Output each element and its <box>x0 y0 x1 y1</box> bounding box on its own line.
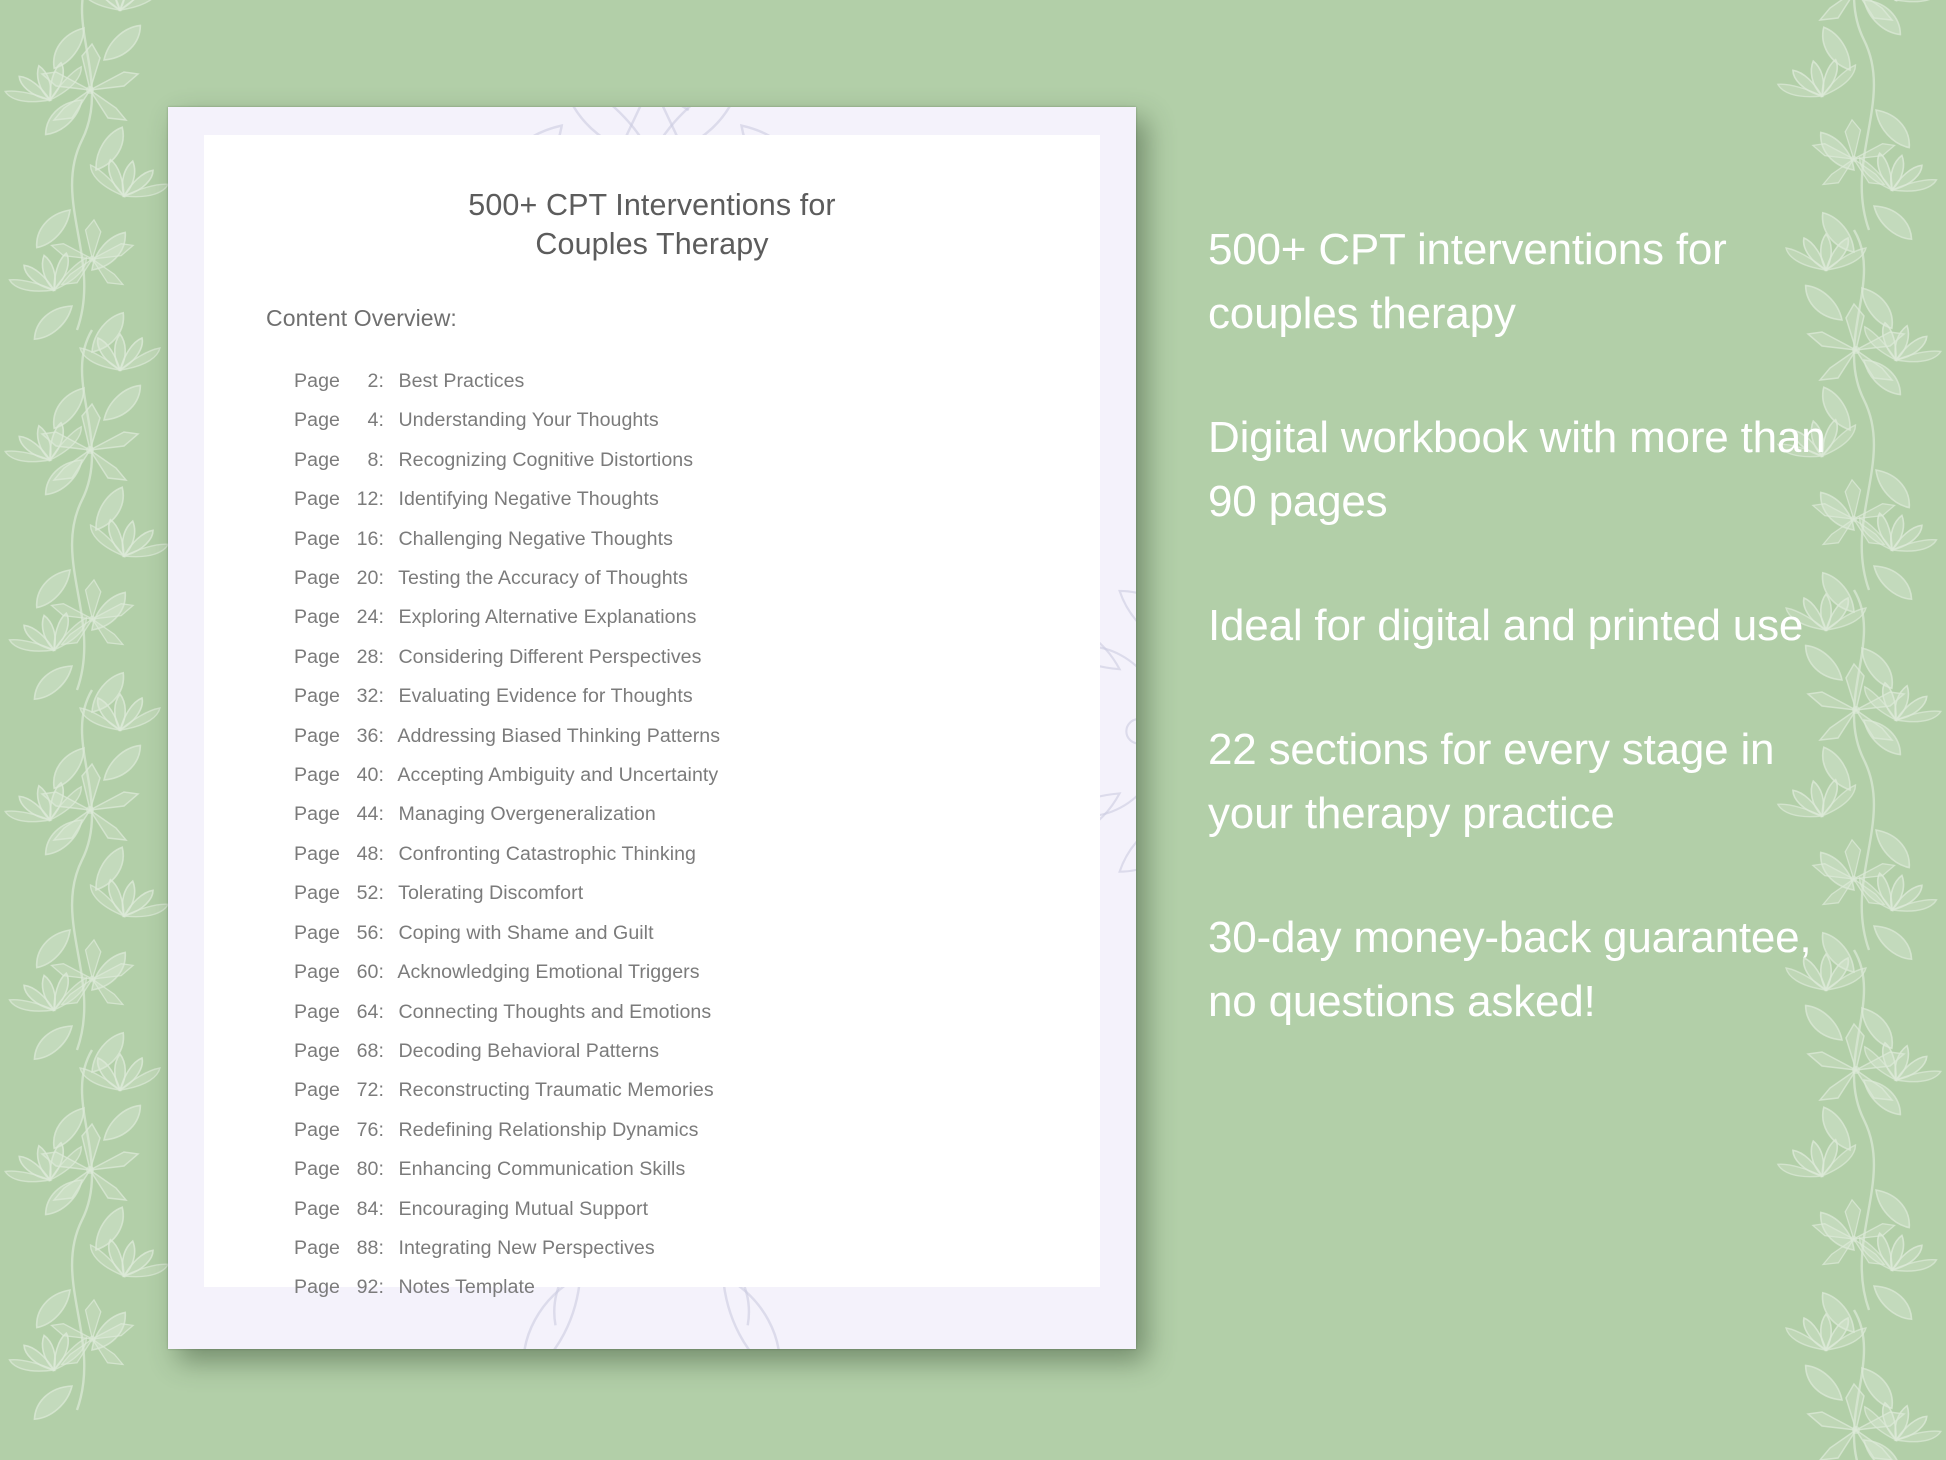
toc-page-number: 2 <box>345 362 378 401</box>
table-of-contents-item: Page 12: Identifying Negative Thoughts <box>294 480 1100 519</box>
toc-page-number: 24 <box>345 598 378 637</box>
toc-section-title: Integrating New Perspectives <box>393 1229 655 1268</box>
marketing-feature-item: Digital workbook with more than 90 pages <box>1208 406 1828 534</box>
toc-section-title: Notes Template <box>393 1268 535 1307</box>
toc-page-label: Page 84: <box>294 1190 393 1229</box>
toc-page-number: 76 <box>345 1111 378 1150</box>
toc-page-word: Page <box>294 685 345 707</box>
toc-section-title: Evaluating Evidence for Thoughts <box>393 677 693 716</box>
toc-page-word: Page <box>294 1001 345 1023</box>
toc-colon: : <box>378 843 393 865</box>
toc-page-number: 84 <box>345 1190 378 1229</box>
toc-page-number: 20 <box>345 559 378 598</box>
toc-page-label: Page 48: <box>294 835 393 874</box>
table-of-contents-item: Page 92: Notes Template <box>294 1268 1100 1307</box>
table-of-contents-item: Page 8: Recognizing Cognitive Distortion… <box>294 441 1100 480</box>
toc-colon: : <box>378 567 393 589</box>
toc-page-word: Page <box>294 1158 345 1180</box>
toc-page-number: 52 <box>345 874 378 913</box>
toc-colon: : <box>378 764 393 786</box>
table-of-contents-item: Page 20: Testing the Accuracy of Thought… <box>294 559 1100 598</box>
toc-colon: : <box>378 528 393 550</box>
toc-colon: : <box>378 725 393 747</box>
toc-page-label: Page 56: <box>294 914 393 953</box>
toc-page-label: Page 16: <box>294 520 393 559</box>
toc-page-label: Page 32: <box>294 677 393 716</box>
toc-page-label: Page 24: <box>294 598 393 637</box>
toc-section-title: Exploring Alternative Explanations <box>393 598 696 637</box>
toc-page-label: Page 2: <box>294 362 393 401</box>
toc-page-word: Page <box>294 843 345 865</box>
toc-page-number: 28 <box>345 638 378 677</box>
toc-page-number: 72 <box>345 1071 378 1110</box>
toc-page-label: Page 52: <box>294 874 393 913</box>
toc-page-word: Page <box>294 606 345 628</box>
toc-page-word: Page <box>294 961 345 983</box>
page-title: 500+ CPT Interventions for Couples Thera… <box>204 135 1100 264</box>
marketing-feature-item: 500+ CPT interventions for couples thera… <box>1208 218 1828 346</box>
content-overview-label: Content Overview: <box>204 264 1100 332</box>
toc-page-word: Page <box>294 922 345 944</box>
toc-colon: : <box>378 685 393 707</box>
toc-page-word: Page <box>294 409 345 431</box>
toc-page-label: Page 44: <box>294 795 393 834</box>
toc-page-number: 60 <box>345 953 378 992</box>
table-of-contents-item: Page 80: Enhancing Communication Skills <box>294 1150 1100 1189</box>
toc-page-number: 4 <box>345 401 378 440</box>
table-of-contents-item: Page 44: Managing Overgeneralization <box>294 795 1100 834</box>
toc-page-label: Page 12: <box>294 480 393 519</box>
toc-section-title: Coping with Shame and Guilt <box>393 914 654 953</box>
table-of-contents-item: Page 60: Acknowledging Emotional Trigger… <box>294 953 1100 992</box>
toc-colon: : <box>378 1198 393 1220</box>
toc-page-label: Page 80: <box>294 1150 393 1189</box>
toc-page-word: Page <box>294 528 345 550</box>
table-of-contents-item: Page 36: Addressing Biased Thinking Patt… <box>294 717 1100 756</box>
toc-page-number: 88 <box>345 1229 378 1268</box>
table-of-contents-item: Page 2: Best Practices <box>294 362 1100 401</box>
toc-page-number: 32 <box>345 677 378 716</box>
toc-colon: : <box>378 1158 393 1180</box>
toc-page-number: 40 <box>345 756 378 795</box>
table-of-contents-item: Page 48: Confronting Catastrophic Thinki… <box>294 835 1100 874</box>
toc-section-title: Managing Overgeneralization <box>393 795 656 834</box>
toc-colon: : <box>378 370 393 392</box>
toc-section-title: Addressing Biased Thinking Patterns <box>393 717 720 756</box>
toc-page-word: Page <box>294 1079 345 1101</box>
toc-page-number: 44 <box>345 795 378 834</box>
toc-page-word: Page <box>294 1119 345 1141</box>
toc-colon: : <box>378 449 393 471</box>
toc-page-label: Page 76: <box>294 1111 393 1150</box>
toc-page-number: 48 <box>345 835 378 874</box>
toc-page-word: Page <box>294 370 345 392</box>
toc-page-label: Page 92: <box>294 1268 393 1307</box>
toc-page-word: Page <box>294 725 345 747</box>
toc-page-word: Page <box>294 882 345 904</box>
toc-section-title: Challenging Negative Thoughts <box>393 520 673 559</box>
marketing-feature-item: 30-day money-back guarantee, no question… <box>1208 906 1828 1034</box>
marketing-feature-item: Ideal for digital and printed use <box>1208 594 1828 658</box>
toc-page-label: Page 60: <box>294 953 393 992</box>
toc-page-word: Page <box>294 1276 345 1298</box>
toc-section-title: Understanding Your Thoughts <box>393 401 659 440</box>
table-of-contents-item: Page 64: Connecting Thoughts and Emotion… <box>294 993 1100 1032</box>
toc-page-label: Page 8: <box>294 441 393 480</box>
toc-colon: : <box>378 922 393 944</box>
toc-page-label: Page 72: <box>294 1071 393 1110</box>
toc-page-label: Page 64: <box>294 993 393 1032</box>
toc-section-title: Recognizing Cognitive Distortions <box>393 441 693 480</box>
page-title-line-2: Couples Therapy <box>535 227 768 261</box>
table-of-contents-item: Page 4: Understanding Your Thoughts <box>294 401 1100 440</box>
toc-page-label: Page 88: <box>294 1229 393 1268</box>
toc-page-number: 68 <box>345 1032 378 1071</box>
toc-section-title: Tolerating Discomfort <box>393 874 583 913</box>
toc-page-word: Page <box>294 488 345 510</box>
toc-page-number: 12 <box>345 480 378 519</box>
toc-section-title: Testing the Accuracy of Thoughts <box>393 559 688 598</box>
toc-colon: : <box>378 882 393 904</box>
toc-colon: : <box>378 1119 393 1141</box>
marketing-feature-item: 22 sections for every stage in your ther… <box>1208 718 1828 846</box>
toc-section-title: Connecting Thoughts and Emotions <box>393 993 711 1032</box>
toc-colon: : <box>378 1276 393 1298</box>
marketing-feature-list: 500+ CPT interventions for couples thera… <box>1208 218 1828 1034</box>
table-of-contents-item: Page 40: Accepting Ambiguity and Uncerta… <box>294 756 1100 795</box>
table-of-contents-item: Page 16: Challenging Negative Thoughts <box>294 520 1100 559</box>
document-preview-card: 500+ CPT Interventions for Couples Thera… <box>168 107 1136 1349</box>
toc-page-label: Page 68: <box>294 1032 393 1071</box>
toc-colon: : <box>378 606 393 628</box>
toc-section-title: Redefining Relationship Dynamics <box>393 1111 699 1150</box>
toc-page-number: 64 <box>345 993 378 1032</box>
toc-page-word: Page <box>294 803 345 825</box>
toc-page-label: Page 36: <box>294 717 393 756</box>
table-of-contents-item: Page 88: Integrating New Perspectives <box>294 1229 1100 1268</box>
toc-page-word: Page <box>294 1237 345 1259</box>
table-of-contents-item: Page 56: Coping with Shame and Guilt <box>294 914 1100 953</box>
toc-page-word: Page <box>294 764 345 786</box>
page-title-line-1: 500+ CPT Interventions for <box>468 188 835 222</box>
toc-colon: : <box>378 1237 393 1259</box>
table-of-contents-item: Page 32: Evaluating Evidence for Thought… <box>294 677 1100 716</box>
table-of-contents-item: Page 52: Tolerating Discomfort <box>294 874 1100 913</box>
toc-page-word: Page <box>294 567 345 589</box>
table-of-contents-item: Page 24: Exploring Alternative Explanati… <box>294 598 1100 637</box>
toc-page-number: 92 <box>345 1268 378 1307</box>
toc-page-word: Page <box>294 1040 345 1062</box>
toc-page-number: 36 <box>345 717 378 756</box>
toc-colon: : <box>378 1040 393 1062</box>
toc-page-word: Page <box>294 1198 345 1220</box>
toc-page-label: Page 40: <box>294 756 393 795</box>
toc-colon: : <box>378 803 393 825</box>
toc-section-title: Reconstructing Traumatic Memories <box>393 1071 714 1110</box>
toc-section-title: Identifying Negative Thoughts <box>393 480 659 519</box>
toc-page-label: Page 28: <box>294 638 393 677</box>
toc-section-title: Encouraging Mutual Support <box>393 1190 648 1229</box>
toc-page-number: 8 <box>345 441 378 480</box>
toc-section-title: Confronting Catastrophic Thinking <box>393 835 696 874</box>
toc-colon: : <box>378 488 393 510</box>
toc-section-title: Considering Different Perspectives <box>393 638 702 677</box>
toc-page-number: 80 <box>345 1150 378 1189</box>
toc-page-label: Page 4: <box>294 401 393 440</box>
toc-section-title: Decoding Behavioral Patterns <box>393 1032 659 1071</box>
table-of-contents-item: Page 68: Decoding Behavioral Patterns <box>294 1032 1100 1071</box>
toc-colon: : <box>378 961 393 983</box>
toc-section-title: Accepting Ambiguity and Uncertainty <box>393 756 718 795</box>
toc-page-label: Page 20: <box>294 559 393 598</box>
toc-page-word: Page <box>294 646 345 668</box>
table-of-contents-item: Page 76: Redefining Relationship Dynamic… <box>294 1111 1100 1150</box>
table-of-contents-item: Page 72: Reconstructing Traumatic Memori… <box>294 1071 1100 1110</box>
table-of-contents-item: Page 84: Encouraging Mutual Support <box>294 1190 1100 1229</box>
table-of-contents: Page 2: Best PracticesPage 4: Understand… <box>204 332 1100 1308</box>
toc-colon: : <box>378 1001 393 1023</box>
toc-page-word: Page <box>294 449 345 471</box>
table-of-contents-item: Page 28: Considering Different Perspecti… <box>294 638 1100 677</box>
toc-colon: : <box>378 1079 393 1101</box>
toc-page-number: 16 <box>345 520 378 559</box>
toc-colon: : <box>378 409 393 431</box>
toc-page-number: 56 <box>345 914 378 953</box>
toc-section-title: Best Practices <box>393 362 524 401</box>
toc-section-title: Acknowledging Emotional Triggers <box>393 953 700 992</box>
document-page: 500+ CPT Interventions for Couples Thera… <box>204 135 1100 1287</box>
toc-section-title: Enhancing Communication Skills <box>393 1150 685 1189</box>
toc-colon: : <box>378 646 393 668</box>
